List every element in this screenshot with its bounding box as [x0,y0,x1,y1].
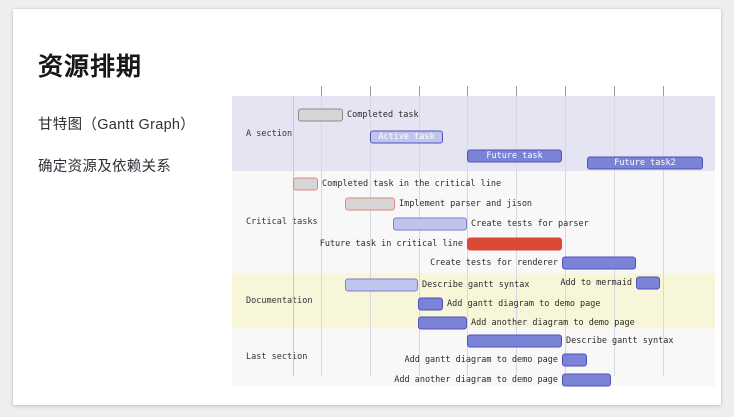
subtitle-resource-dependency: 确定资源及依赖关系 [38,155,171,176]
gantt-gridline [663,96,664,376]
gantt-task-bar[interactable] [636,277,660,290]
gantt-task-label: Future task2 [587,159,703,168]
gantt-task-label: Future task in critical line [320,240,463,249]
gantt-task-bar[interactable] [562,354,587,367]
gantt-label-column-divider [293,96,294,376]
slide-card: 资源排期 甘特图（Gantt Graph） 确定资源及依赖关系 A sectio… [13,9,721,405]
gantt-task-bar[interactable] [345,279,418,292]
gantt-task-bar[interactable] [418,298,443,311]
gantt-plot-area: A sectionCritical tasksDocumentationLast… [232,96,715,376]
gantt-section-label: Critical tasks [246,217,318,227]
gantt-task-bar[interactable] [562,257,636,270]
gantt-gridline [614,96,615,376]
gantt-section-label: Documentation [246,296,313,306]
gantt-axis-tick [419,86,420,96]
gantt-task-label: Add gantt diagram to demo page [404,356,558,365]
gantt-task-bar[interactable] [345,198,395,211]
gantt-axis-tick [321,86,322,96]
gantt-task-label: Add gantt diagram to demo page [447,300,601,309]
gantt-axis-tick [663,86,664,96]
gantt-task-label: Add to mermaid [560,279,632,288]
gantt-task-label: Add another diagram to demo page [394,376,558,385]
gantt-task-label: Completed task [347,111,419,120]
gantt-axis-tick [565,86,566,96]
gantt-task-label: Completed task in the critical line [322,180,501,189]
gantt-gridline [321,96,322,376]
gantt-task-label: Create tests for renderer [430,259,558,268]
gantt-task-bar[interactable] [393,218,467,231]
page-title: 资源排期 [38,47,142,83]
gantt-chart: A sectionCritical tasksDocumentationLast… [232,96,715,376]
gantt-task-label: Describe gantt syntax [566,337,673,346]
gantt-task-bar[interactable] [418,317,467,330]
gantt-task-label: Create tests for parser [471,220,589,229]
gantt-task-bar[interactable] [562,374,611,387]
gantt-task-label: Implement parser and jison [399,200,532,209]
gantt-axis-tick [370,86,371,96]
gantt-task-bar[interactable] [298,109,343,122]
gantt-task-bar[interactable] [293,178,318,191]
gantt-axis-tick [467,86,468,96]
gantt-axis-tick [614,86,615,96]
gantt-task-label: Active task [370,133,443,142]
gantt-task-label: Describe gantt syntax [422,281,529,290]
gantt-task-label: Add another diagram to demo page [471,319,635,328]
subtitle-gantt-graph: 甘特图（Gantt Graph） [38,113,195,134]
gantt-task-bar[interactable] [467,238,562,251]
gantt-gridline [565,96,566,376]
gantt-section-label: A section [246,129,292,139]
gantt-axis-tick [516,86,517,96]
gantt-task-bar[interactable] [467,335,562,348]
gantt-task-label: Future task [467,152,562,161]
gantt-section-label: Last section [246,352,307,362]
